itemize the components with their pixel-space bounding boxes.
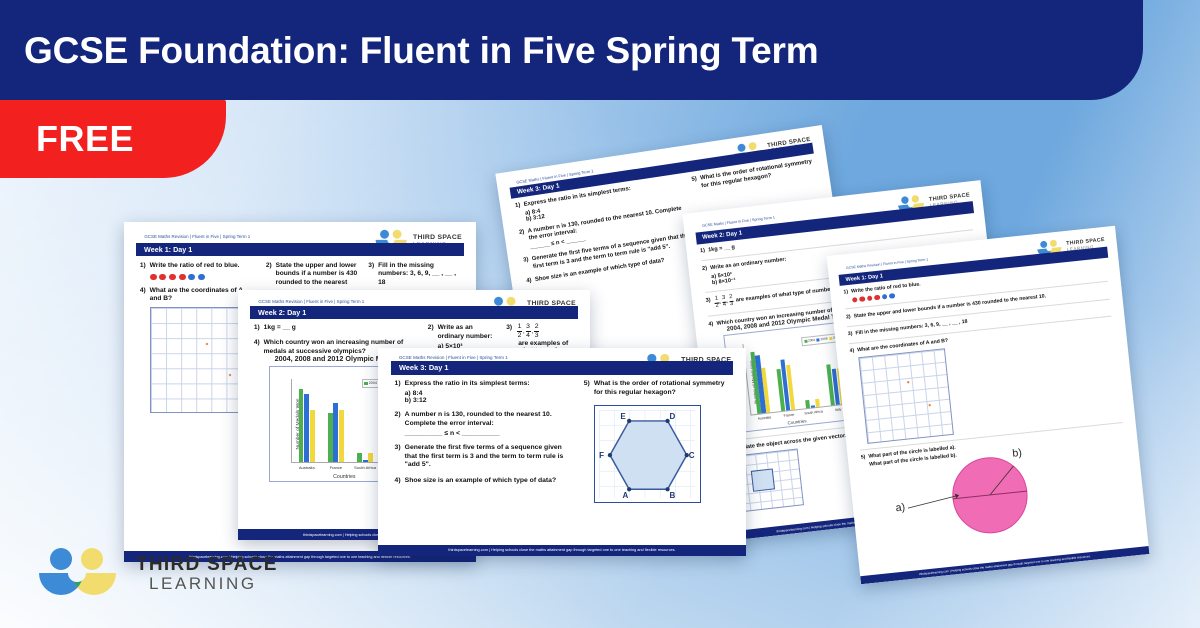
chart-bar <box>299 389 304 461</box>
question-content: Fill in the missing numbers: 3, 6, 9, __… <box>378 262 460 287</box>
question-number: 4) <box>395 477 401 486</box>
chart-bar <box>328 413 333 462</box>
chart-category-group: France <box>774 339 796 410</box>
red-blue-dots-visual <box>150 274 256 281</box>
chart-category-label: South Africa <box>804 409 823 415</box>
question-number: 1) <box>254 324 260 332</box>
fraction: 23 <box>728 295 734 308</box>
question-number: 2) <box>702 266 709 287</box>
dot-red <box>859 296 865 302</box>
question-number: 3) <box>368 262 374 287</box>
worksheet-band-label: Week 3: Day 1 <box>517 182 560 195</box>
question-number: 3) <box>523 257 530 273</box>
worksheet-column: 5)What is the order of rotational symmet… <box>584 380 730 535</box>
chart-category-label: France <box>330 465 343 470</box>
question-number: 4) <box>140 287 146 413</box>
question-text: A number n is 130, rounded to the neares… <box>405 411 573 428</box>
point-b <box>228 373 231 376</box>
worksheet-band-label: Week 3: Day 1 <box>399 363 449 372</box>
question-text: are examples of what type of number? <box>736 286 837 303</box>
hexagon-label: C <box>689 451 695 460</box>
worksheet-column: 1)Express the ratio in its simplest term… <box>395 380 573 535</box>
chart-category-group: Australia <box>749 342 771 413</box>
worksheet-eyebrow: GCSE Maths Revision | Fluent in Five | S… <box>136 234 258 239</box>
chart-category-group: South Africa <box>798 336 820 407</box>
chart-bar <box>333 403 338 462</box>
sheet-logo-line-1: THIRD SPACE <box>413 234 462 241</box>
hexagon-label: F <box>599 451 604 460</box>
worksheet-band: Week 1: Day 1 <box>136 243 463 256</box>
fraction-denominator: 2 <box>716 304 720 310</box>
question-row: 2)A number n is 130, rounded to the near… <box>395 411 573 437</box>
fraction-denominator: 4 <box>526 333 530 340</box>
dot-red <box>874 295 880 301</box>
worksheet-eyebrow: GCSE Maths Revision | Fluent in Five | S… <box>391 355 516 360</box>
question-number: 1) <box>700 248 706 256</box>
brand-logo: THIRD SPACE LEARNING <box>36 546 278 602</box>
question-row: 1)Express the ratio in its simplest term… <box>395 380 573 404</box>
worksheet-eyebrow: GCSE Maths Revision | Fluent in Five | S… <box>250 299 372 304</box>
chart-legend-label: 2008 <box>820 337 827 342</box>
question-number: 1) <box>395 380 401 404</box>
question-row: 1)Write the ratio of red to blue. <box>140 262 255 281</box>
dot-blue <box>188 274 195 281</box>
question-option-a: a) 8:4 <box>405 390 573 397</box>
question-text: Shoe size is an example of which type of… <box>405 477 573 486</box>
fraction-separator: , <box>523 328 525 335</box>
question-content: State the upper and lower bounds if a nu… <box>276 262 358 287</box>
free-badge: FREE <box>0 100 226 178</box>
question-text: Express the ratio in its simplest terms: <box>405 380 573 389</box>
question-content: What part of the circle is labelled a).W… <box>868 427 1132 545</box>
question-number: 1) <box>140 262 146 281</box>
question-row: 3)Fill in the missing numbers: 3, 6, 9, … <box>368 262 460 287</box>
hexagon-label: B <box>670 491 676 500</box>
question-number: 3) <box>395 444 401 470</box>
worksheet-sheet-week3-front: GCSE Maths Revision | Fluent in Five | S… <box>378 348 746 556</box>
question-content: Express the ratio in its simplest terms:… <box>405 380 573 404</box>
circle-radius-diameter-visual: a)b) <box>881 454 1031 544</box>
question-content: Generate the first five terms of a seque… <box>405 444 573 470</box>
chart-bar <box>811 406 815 408</box>
dot-red <box>159 274 166 281</box>
dot-blue <box>889 293 895 299</box>
three-people-logo-icon <box>36 546 122 602</box>
chart-legend-swatch <box>804 340 807 343</box>
question-number: 1) <box>843 289 849 304</box>
fraction-numerator: 2 <box>535 324 539 331</box>
point-a <box>907 381 910 384</box>
translation-shape <box>751 468 775 492</box>
question-row: 3)Generate the first five terms of a seq… <box>395 444 573 470</box>
question-number: 5) <box>691 176 698 192</box>
logo-line-1: THIRD SPACE <box>136 555 278 575</box>
worksheet-band-label: Week 2: Day 1 <box>258 308 306 317</box>
logo-line-2: LEARNING <box>136 575 278 593</box>
chart-legend-swatch <box>829 337 832 340</box>
worksheet-footer: thirdspacelearning.com | Helping schools… <box>378 545 746 556</box>
chart-legend-label: 2004 <box>808 338 815 343</box>
question-number: 3) <box>705 297 711 311</box>
question-row: 4)Shoe size is an example of which type … <box>395 477 573 486</box>
fraction-numerator: 3 <box>526 324 530 331</box>
chart-category-label: Australia <box>299 465 315 470</box>
question-content: What is the order of rotational symmetry… <box>594 380 730 503</box>
dot-blue <box>882 294 888 300</box>
dot-red <box>867 296 873 302</box>
header-banner: GCSE Foundation: Fluent in Five Spring T… <box>0 0 1143 100</box>
chart-plot-area: AustraliaFranceSouth AfricaItaly <box>743 333 851 415</box>
chart-category-group: Australia <box>299 379 315 462</box>
hexagon-label: E <box>620 412 625 421</box>
question-content: 1kg = __ g <box>264 324 418 332</box>
chart-bar <box>363 460 368 461</box>
fraction-denominator: 2 <box>518 333 522 340</box>
page-title: GCSE Foundation: Fluent in Five Spring T… <box>0 32 818 69</box>
question-number: 2) <box>266 262 272 287</box>
chart-category-label: Australia <box>758 415 772 420</box>
chart-legend-item: 2004 <box>804 338 815 343</box>
question-subtext: __________ ≤ n < __________ <box>405 430 573 437</box>
question-text: Write as an ordinary number: <box>438 324 496 341</box>
chart-category-label: Italy <box>835 407 842 412</box>
fraction-separator: , <box>531 328 533 335</box>
fraction-denominator: 4 <box>723 303 727 309</box>
question-number: 2) <box>519 229 528 252</box>
chart-legend-item: 2008 <box>817 337 828 342</box>
circle-label-a: a) <box>895 501 906 514</box>
hexagon-label: D <box>670 412 676 421</box>
question-text: Generate the first five terms of a seque… <box>405 444 573 470</box>
question-row: 2)State the upper and lower bounds if a … <box>266 262 358 287</box>
question-number: 1) <box>515 203 523 224</box>
chart-bar <box>304 394 309 462</box>
fraction-denominator: 3 <box>535 333 539 340</box>
question-content: A number n is 130, rounded to the neares… <box>405 411 573 437</box>
question-number: 5) <box>584 380 590 503</box>
fraction: 23 <box>534 324 539 340</box>
point-a <box>205 343 208 346</box>
chart-legend-swatch <box>817 338 820 341</box>
chart-category-label: South Africa <box>354 465 376 470</box>
chart-legend-item: 2004 <box>364 381 377 385</box>
coordinate-grid-visual <box>858 348 954 444</box>
question-text: State the upper and lower bounds if a nu… <box>276 262 358 287</box>
worksheet-band: Week 3: Day 1 <box>391 361 733 375</box>
chart-legend-swatch <box>364 382 367 385</box>
chart-legend-label: 2004 <box>369 381 377 385</box>
dot-blue <box>198 274 205 281</box>
circle-label-b: b) <box>1012 447 1023 460</box>
question-text: Write the ratio of red to blue. <box>150 262 256 270</box>
hexagon-visual: ABCDEF <box>594 405 701 503</box>
question-text: Fill in the missing numbers: 3, 6, 9, __… <box>378 262 460 287</box>
question-row: 1)1kg = __ g <box>254 324 417 332</box>
worksheet-body: 1)Express the ratio in its simplest term… <box>395 380 730 535</box>
worksheet-body: 1)Write the ratio of red to blue.2)State… <box>843 262 1133 550</box>
fraction: 34 <box>526 324 531 340</box>
dot-red <box>150 274 157 281</box>
worksheet-band: Week 2: Day 1 <box>250 306 577 319</box>
dot-red <box>179 274 186 281</box>
question-text: What is the order of rotational symmetry… <box>594 380 730 397</box>
chart-bar <box>310 410 315 462</box>
worksheet-band-label: Week 1: Day 1 <box>845 273 883 283</box>
chart-bar <box>805 400 810 408</box>
dot-red <box>169 274 176 281</box>
chart-bar <box>357 453 362 462</box>
question-row: 4)What are the coordinates of A and B? <box>849 315 1122 444</box>
worksheet-band-label: Week 2: Day 1 <box>702 230 743 241</box>
chart-category-group: South Africa <box>357 379 373 462</box>
chart-bar <box>368 453 373 462</box>
fraction-denominator: 3 <box>730 302 734 308</box>
question-number: 3) <box>848 331 853 338</box>
fraction: 12 <box>517 324 522 340</box>
dot-red <box>852 297 858 303</box>
chart-category-group: France <box>328 379 344 462</box>
point-b <box>928 404 931 407</box>
question-number: 2) <box>846 314 851 321</box>
question-number: 4) <box>254 339 260 482</box>
question-option-b: b) 3:12 <box>405 397 573 404</box>
worksheet-band-label: Week 1: Day 1 <box>144 245 192 254</box>
question-content: Write the ratio of red to blue. <box>150 262 256 281</box>
chart-bar <box>815 399 820 407</box>
worksheet-footer-text: thirdspacelearning.com | Helping schools… <box>448 548 675 552</box>
chart-bar <box>339 410 344 462</box>
question-content: Shoe size is an example of which type of… <box>405 477 573 486</box>
question-row: 5)What is the order of rotational symmet… <box>584 380 730 503</box>
fraction-numerator: 1 <box>518 324 522 331</box>
free-badge-label: FREE <box>0 118 134 160</box>
question-number: 4) <box>526 277 532 285</box>
chart-category-label: France <box>783 413 794 418</box>
worksheet-sheet-week1-right: GCSE Maths Revision | Fluent in Five | S… <box>827 226 1150 585</box>
question-row: 5)What part of the circle is labelled a)… <box>860 422 1133 546</box>
question-number: 2) <box>395 411 401 437</box>
hexagon-label: A <box>623 491 629 500</box>
question-text: 1kg = __ g <box>264 324 418 332</box>
